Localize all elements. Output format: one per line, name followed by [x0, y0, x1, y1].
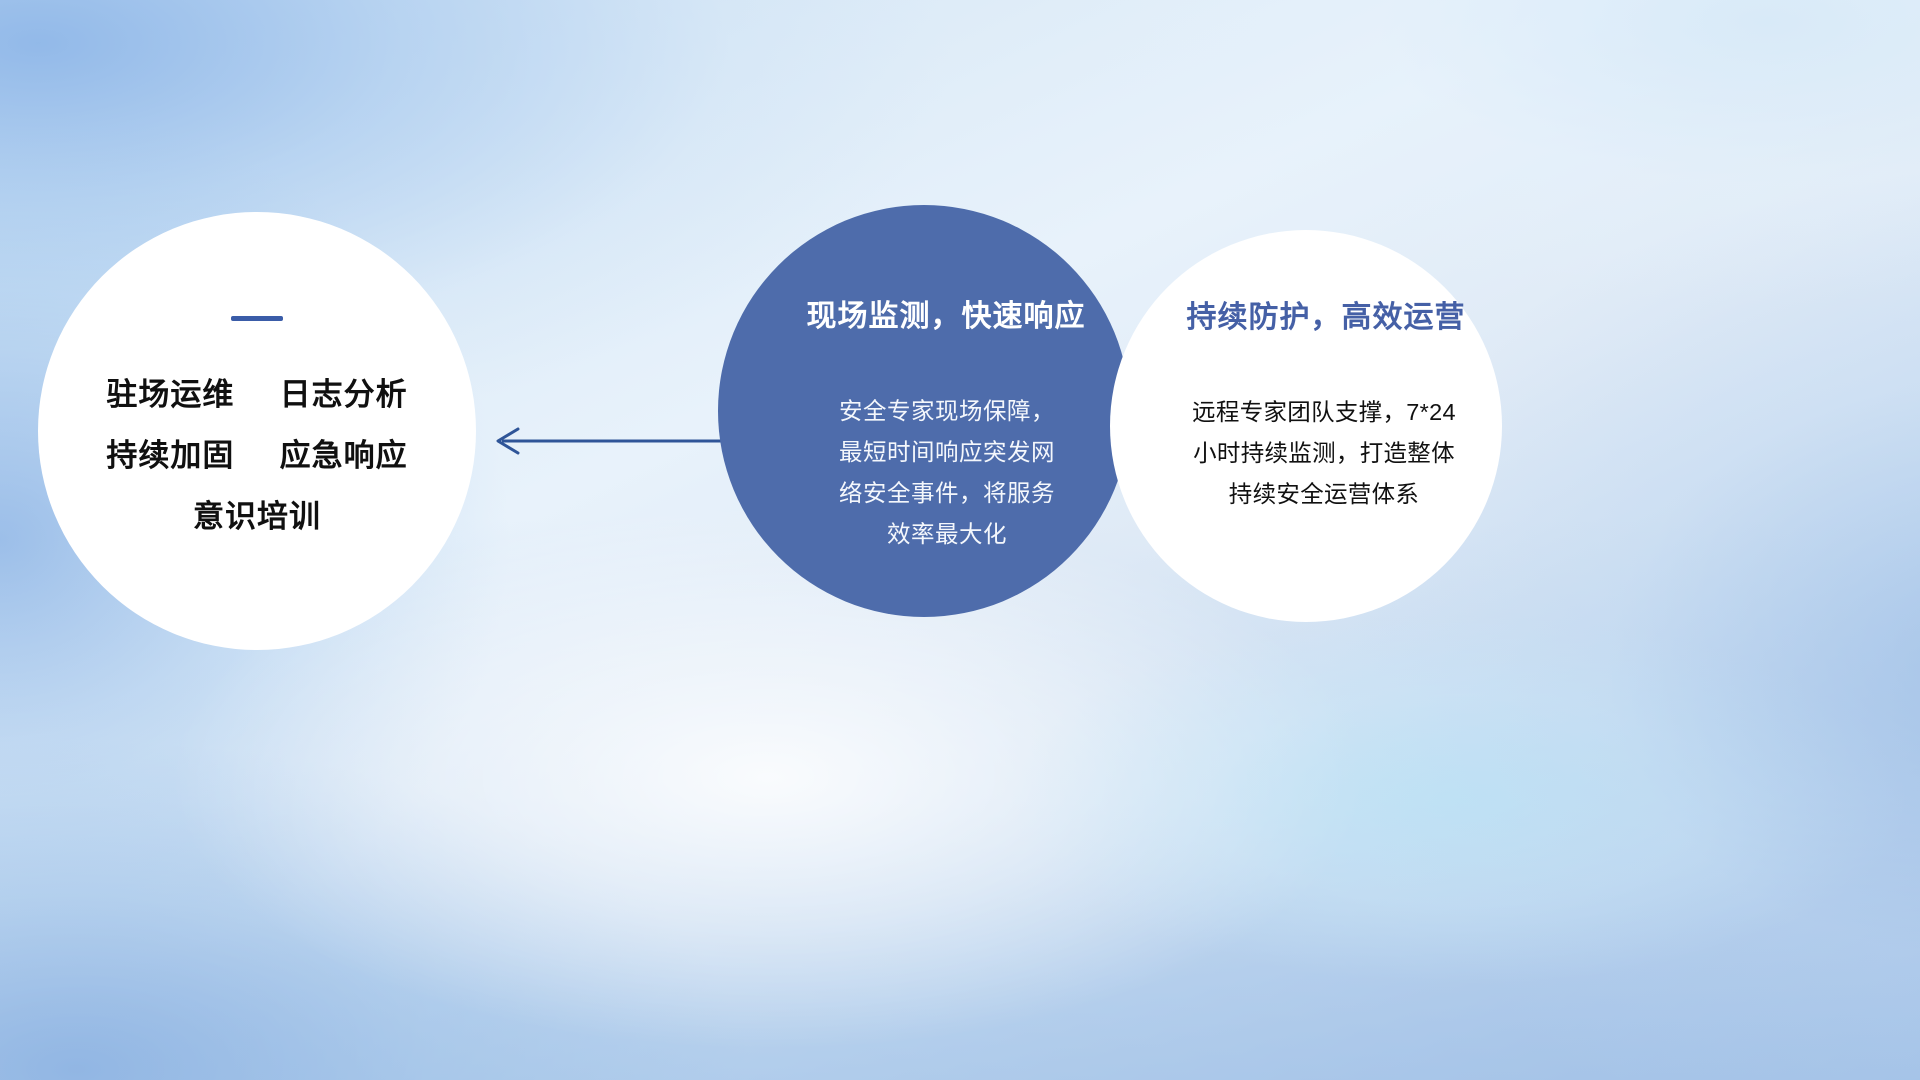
onsite-monitoring-description: 安全专家现场保障， 最短时间响应突发网 络安全事件，将服务 效率最大化 — [797, 391, 1097, 555]
onsite-monitoring-title: 现场监测，快速响应 — [807, 291, 1086, 335]
description-line: 络安全事件，将服务 — [797, 473, 1097, 514]
slide-canvas: 驻场运维 日志分析 持续加固 应急响应 意识培训 现场监测，快速响应 安全专家现… — [0, 0, 1920, 1080]
keyword-item: 日志分析 — [280, 377, 408, 412]
description-line: 最短时间响应突发网 — [797, 432, 1097, 473]
description-line: 效率最大化 — [797, 514, 1097, 555]
keyword-item: 应急响应 — [280, 438, 408, 473]
continuous-protection-description: 远程专家团队支撑，7*24 小时持续监测，打造整体 持续安全运营体系 — [1138, 392, 1510, 515]
continuous-protection-circle: 持续防护，高效运营 远程专家团队支撑，7*24 小时持续监测，打造整体 持续安全… — [1110, 230, 1502, 622]
keyword-row: 意识培训 — [38, 486, 476, 547]
description-line: 小时持续监测，打造整体 — [1138, 433, 1510, 474]
continuous-protection-title: 持续防护，高效运营 — [1187, 292, 1466, 336]
capability-keywords-circle: 驻场运维 日志分析 持续加固 应急响应 意识培训 — [38, 212, 476, 650]
keyword-item: 驻场运维 — [106, 377, 234, 412]
keyword-row: 持续加固 应急响应 — [38, 425, 476, 486]
accent-dash-divider — [231, 316, 283, 321]
description-line: 远程专家团队支撑，7*24 — [1138, 392, 1510, 433]
keyword-row: 驻场运维 日志分析 — [38, 364, 476, 425]
flow-arrow-left — [480, 414, 740, 468]
description-line: 安全专家现场保障， — [797, 391, 1097, 432]
onsite-monitoring-circle: 现场监测，快速响应 安全专家现场保障， 最短时间响应突发网 络安全事件，将服务 … — [718, 205, 1130, 617]
keyword-item: 意识培训 — [193, 499, 321, 534]
keyword-list: 驻场运维 日志分析 持续加固 应急响应 意识培训 — [38, 364, 476, 547]
description-line: 持续安全运营体系 — [1138, 474, 1510, 515]
keyword-item: 持续加固 — [106, 438, 234, 473]
